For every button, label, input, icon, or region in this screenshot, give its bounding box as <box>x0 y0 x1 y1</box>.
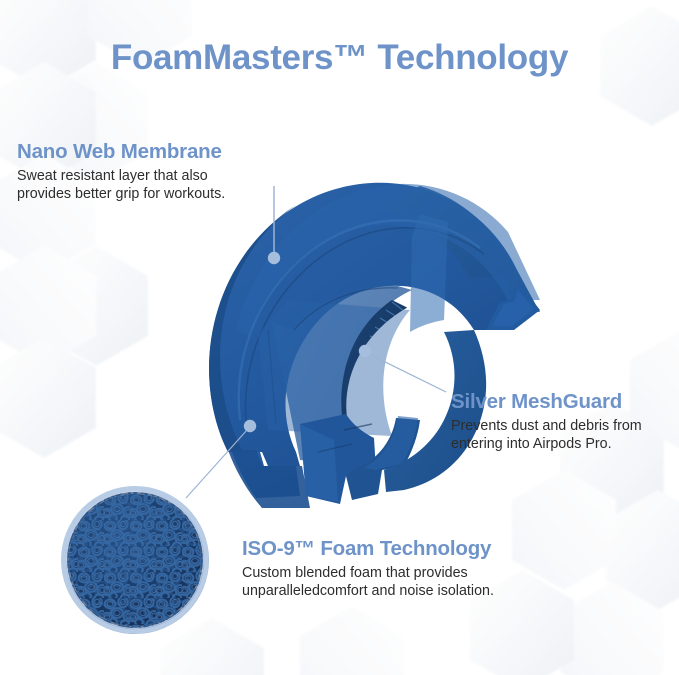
callout-heading-silver-meshguard: Silver MeshGuard <box>451 390 642 414</box>
callout-body-line-2: unparalleledcomfort and noise isolation. <box>242 582 494 601</box>
infographic-canvas: FoamMasters™ Technology Nano Web Membran… <box>0 0 679 675</box>
callout-iso-9-foam-technology: ISO-9™ Foam Technology Custom blended fo… <box>242 537 494 601</box>
callout-body-line-2: provides better grip for workouts. <box>17 185 225 204</box>
silver-meshguard-leader <box>369 354 446 392</box>
callout-body-iso-9-foam-technology: Custom blended foam that provides unpara… <box>242 564 494 602</box>
silver-meshguard-marker <box>359 345 371 357</box>
callout-body-line-1: Prevents dust and debris from <box>451 417 642 436</box>
callout-body-line-2: entering into Airpods Pro. <box>451 435 642 454</box>
iso-9-foam-leader <box>186 430 247 498</box>
callout-nano-web-membrane: Nano Web Membrane Sweat resistant layer … <box>17 140 225 204</box>
foam-microstructure-closeup <box>60 482 212 637</box>
callout-heading-iso-9-foam-technology: ISO-9™ Foam Technology <box>242 537 494 561</box>
callout-silver-meshguard: Silver MeshGuard Prevents dust and debri… <box>451 390 642 454</box>
callout-body-silver-meshguard: Prevents dust and debris from entering i… <box>451 417 642 455</box>
nano-web-membrane-marker <box>268 252 280 264</box>
callout-body-line-1: Custom blended foam that provides <box>242 564 494 583</box>
callout-body-line-1: Sweat resistant layer that also <box>17 167 225 186</box>
airpods-pro-eartip-cutaway <box>209 179 540 508</box>
page-title: FoamMasters™ Technology <box>0 38 679 78</box>
callout-body-nano-web-membrane: Sweat resistant layer that also provides… <box>17 167 225 205</box>
iso-9-foam-marker <box>244 420 256 432</box>
callout-heading-nano-web-membrane: Nano Web Membrane <box>17 140 225 164</box>
